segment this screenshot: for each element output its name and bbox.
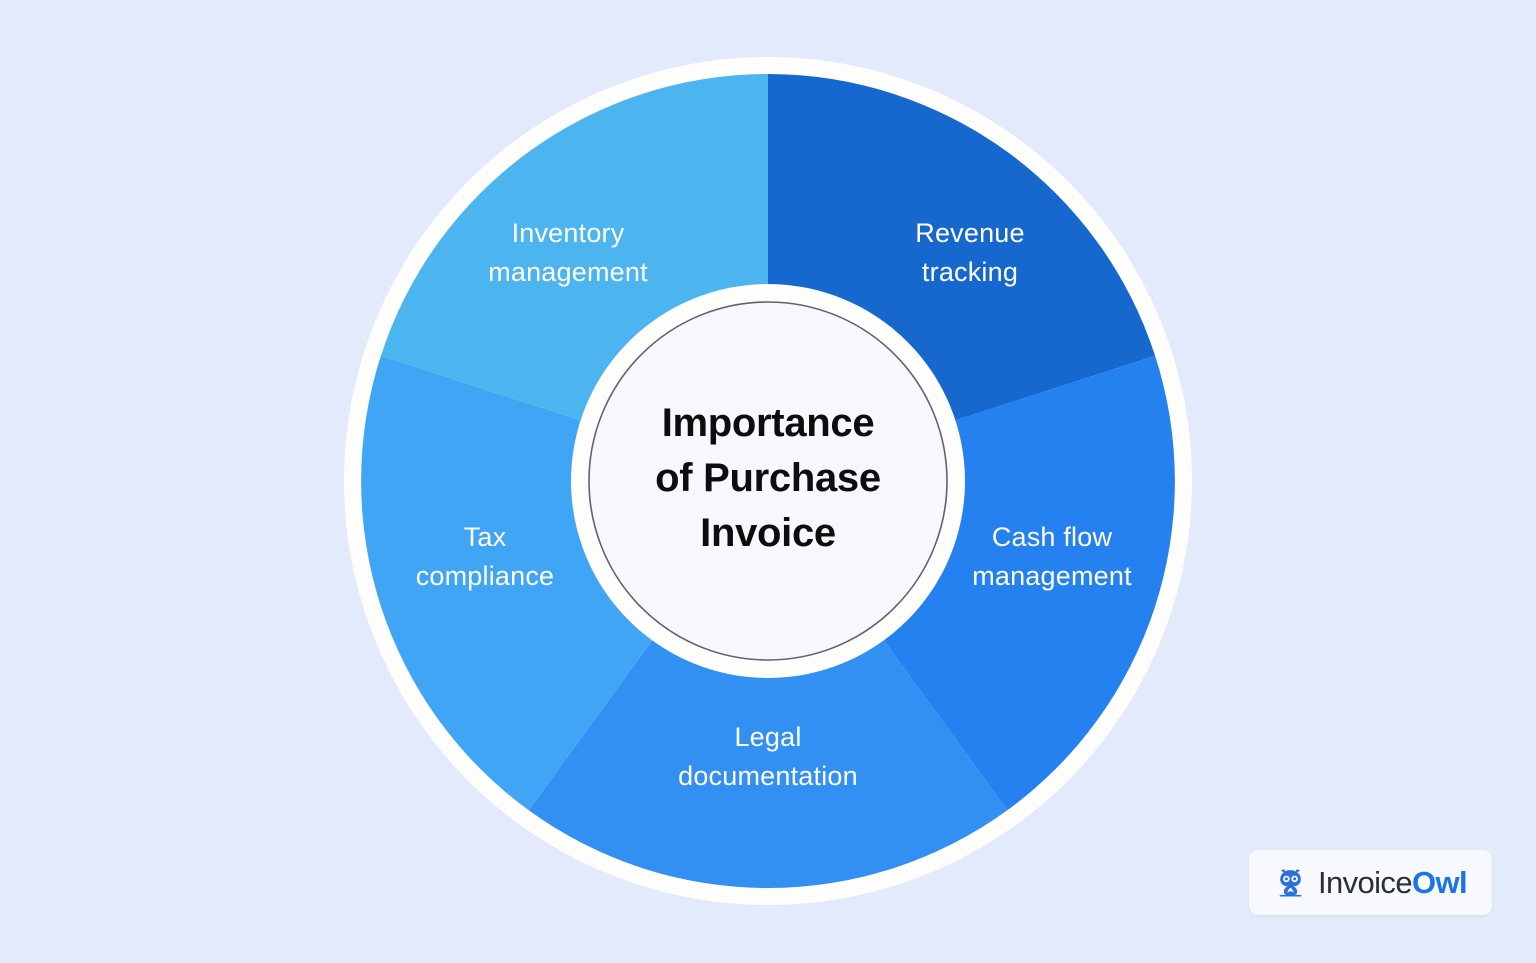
owl-icon bbox=[1274, 866, 1307, 899]
segment-label-revenue-tracking: Revenue tracking bbox=[840, 214, 1100, 292]
logo-text-owl: Owl bbox=[1412, 865, 1467, 900]
page-title: Importance of Purchase Invoice bbox=[588, 396, 948, 562]
logo-wordmark: InvoiceOwl bbox=[1318, 867, 1467, 898]
invoiceowl-logo-badge[interactable]: InvoiceOwl bbox=[1249, 850, 1492, 915]
logo-text-invoice: Invoice bbox=[1318, 865, 1412, 900]
segment-label-legal-documentation: Legal documentation bbox=[638, 718, 898, 796]
segment-label-inventory-management: Inventory management bbox=[438, 214, 698, 292]
infographic-canvas: Importance of Purchase Invoice Revenue t… bbox=[0, 0, 1536, 963]
segment-label-tax-compliance: Tax compliance bbox=[355, 518, 615, 596]
segment-label-cash-flow-management: Cash flow management bbox=[922, 518, 1182, 596]
